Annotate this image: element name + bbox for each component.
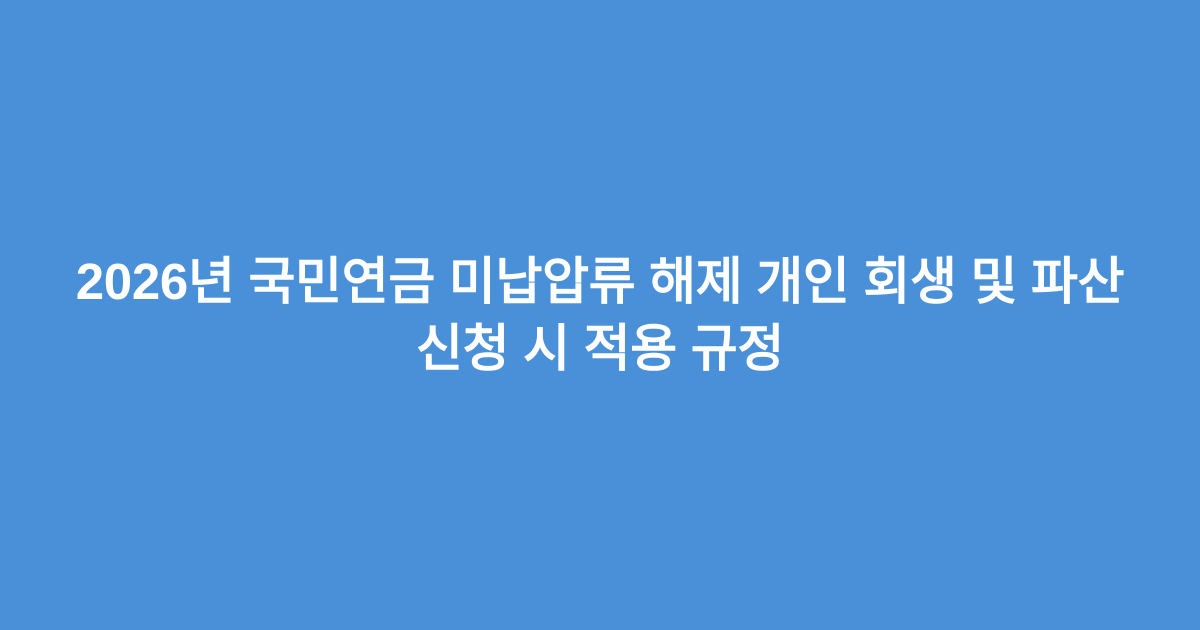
page-title: 2026년 국민연금 미납압류 해제 개인 회생 및 파산 신청 시 적용 규정 xyxy=(60,248,1140,383)
thumbnail-card: 2026년 국민연금 미납압류 해제 개인 회생 및 파산 신청 시 적용 규정 xyxy=(0,0,1200,630)
